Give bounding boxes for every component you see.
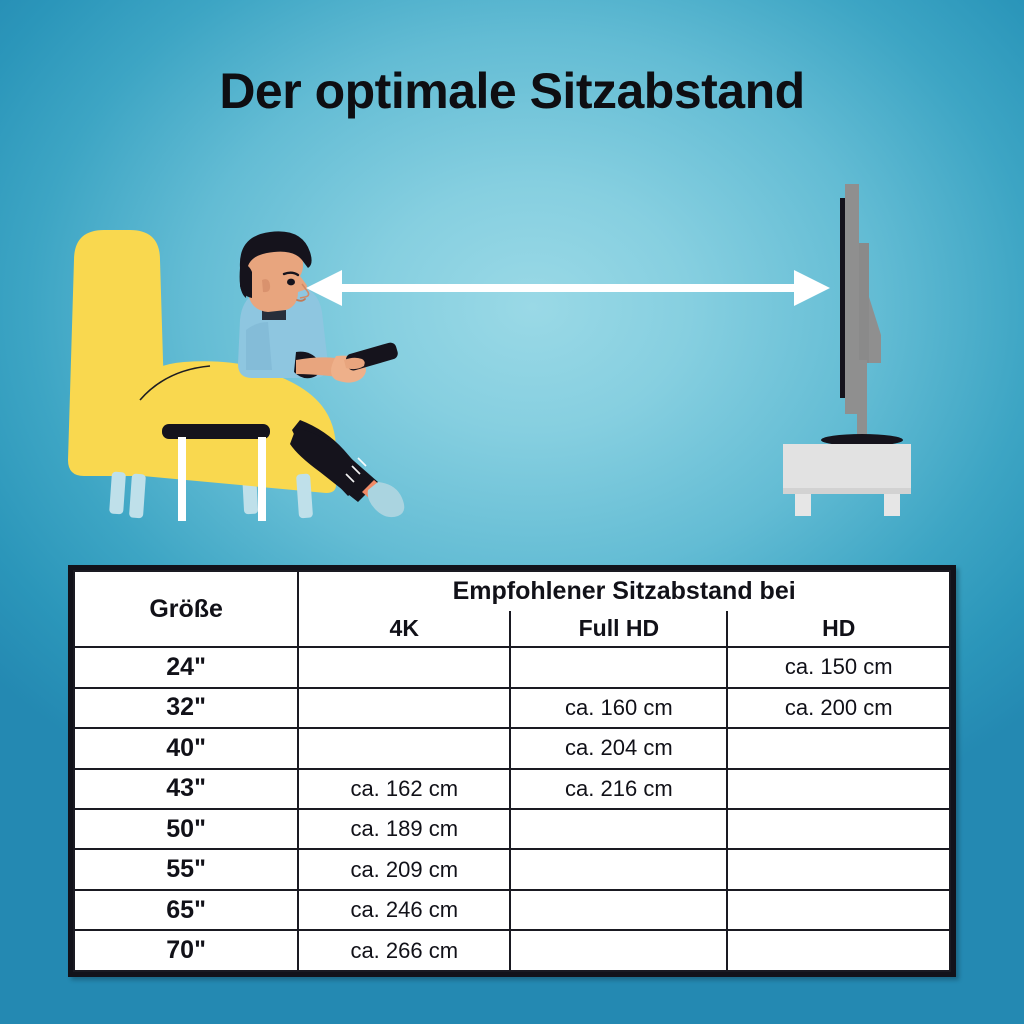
table-row: 24" ca. 150 cm: [74, 647, 950, 687]
footstool-leg-right: [258, 437, 266, 521]
cell-fullhd: ca. 204 cm: [510, 728, 727, 768]
cell-4k: [298, 647, 510, 687]
cell-fullhd: [510, 930, 727, 971]
scene-illustration: [0, 0, 1024, 560]
cell-4k: ca. 266 cm: [298, 930, 510, 971]
tv-group: [821, 184, 903, 446]
table-element: Größe Empfohlener Sitzabstand bei 4K Ful…: [73, 570, 951, 972]
cell-size: 65": [74, 890, 298, 930]
header-size: Größe: [74, 571, 298, 647]
tv-panel: [845, 184, 859, 414]
tv-screen-front-edge: [840, 198, 845, 398]
header-fullhd: Full HD: [510, 611, 727, 647]
cell-size: 32": [74, 688, 298, 728]
chair-leg-back: [109, 472, 126, 515]
cell-hd: [727, 728, 950, 768]
cell-fullhd: [510, 647, 727, 687]
tv-cabinet-leg-right: [884, 494, 900, 516]
header-4k: 4K: [298, 611, 510, 647]
arrow-head-right: [794, 270, 830, 306]
chair-leg-front-left: [129, 474, 146, 519]
footstool-leg-left: [178, 437, 186, 521]
table-row: 32" ca. 160 cm ca. 200 cm: [74, 688, 950, 728]
cell-fullhd: [510, 809, 727, 849]
cell-4k: [298, 688, 510, 728]
cell-fullhd: ca. 160 cm: [510, 688, 727, 728]
cell-size: 55": [74, 849, 298, 889]
table-header-row-top: Größe Empfohlener Sitzabstand bei: [74, 571, 950, 611]
cell-size: 40": [74, 728, 298, 768]
header-span-label: Empfohlener Sitzabstand bei: [298, 571, 950, 611]
distance-double-arrow: [306, 270, 830, 306]
table-row: 70" ca. 266 cm: [74, 930, 950, 971]
cell-hd: [727, 809, 950, 849]
cell-size: 24": [74, 647, 298, 687]
cell-hd: [727, 769, 950, 809]
tv-stand-pole: [857, 360, 867, 440]
person-eye: [287, 279, 295, 286]
cell-4k: [298, 728, 510, 768]
tv-rear-bracket: [869, 297, 881, 363]
cell-size: 50": [74, 809, 298, 849]
table-row: 65" ca. 246 cm: [74, 890, 950, 930]
header-hd: HD: [727, 611, 950, 647]
table-row: 43" ca. 162 cm ca. 216 cm: [74, 769, 950, 809]
tv-cabinet-body: [783, 444, 911, 494]
person-sideburn: [240, 265, 252, 298]
cell-hd: ca. 200 cm: [727, 688, 950, 728]
cell-fullhd: [510, 849, 727, 889]
tv-rear-housing: [859, 243, 869, 363]
infographic-root: Der optimale Sitzabstand: [0, 0, 1024, 1024]
cell-size: 70": [74, 930, 298, 971]
cell-size: 43": [74, 769, 298, 809]
seating-distance-table: Größe Empfohlener Sitzabstand bei 4K Ful…: [68, 565, 956, 977]
footstool-top: [162, 424, 270, 439]
cell-hd: [727, 849, 950, 889]
tv-cabinet-shadow-line: [783, 488, 911, 494]
person-shoe: [368, 482, 405, 517]
cell-hd: [727, 930, 950, 971]
cell-4k: ca. 162 cm: [298, 769, 510, 809]
table-row: 40" ca. 204 cm: [74, 728, 950, 768]
cell-4k: ca. 209 cm: [298, 849, 510, 889]
arrow-shaft: [320, 284, 816, 292]
tv-cabinet-group: [783, 444, 911, 516]
table-row: 50" ca. 189 cm: [74, 809, 950, 849]
cell-4k: ca. 189 cm: [298, 809, 510, 849]
tv-cabinet-leg-left: [795, 494, 811, 516]
table-row: 55" ca. 209 cm: [74, 849, 950, 889]
cell-hd: [727, 890, 950, 930]
cell-fullhd: [510, 890, 727, 930]
cell-hd: ca. 150 cm: [727, 647, 950, 687]
cell-fullhd: ca. 216 cm: [510, 769, 727, 809]
shirt-sleeve-shade: [246, 322, 272, 370]
cell-4k: ca. 246 cm: [298, 890, 510, 930]
